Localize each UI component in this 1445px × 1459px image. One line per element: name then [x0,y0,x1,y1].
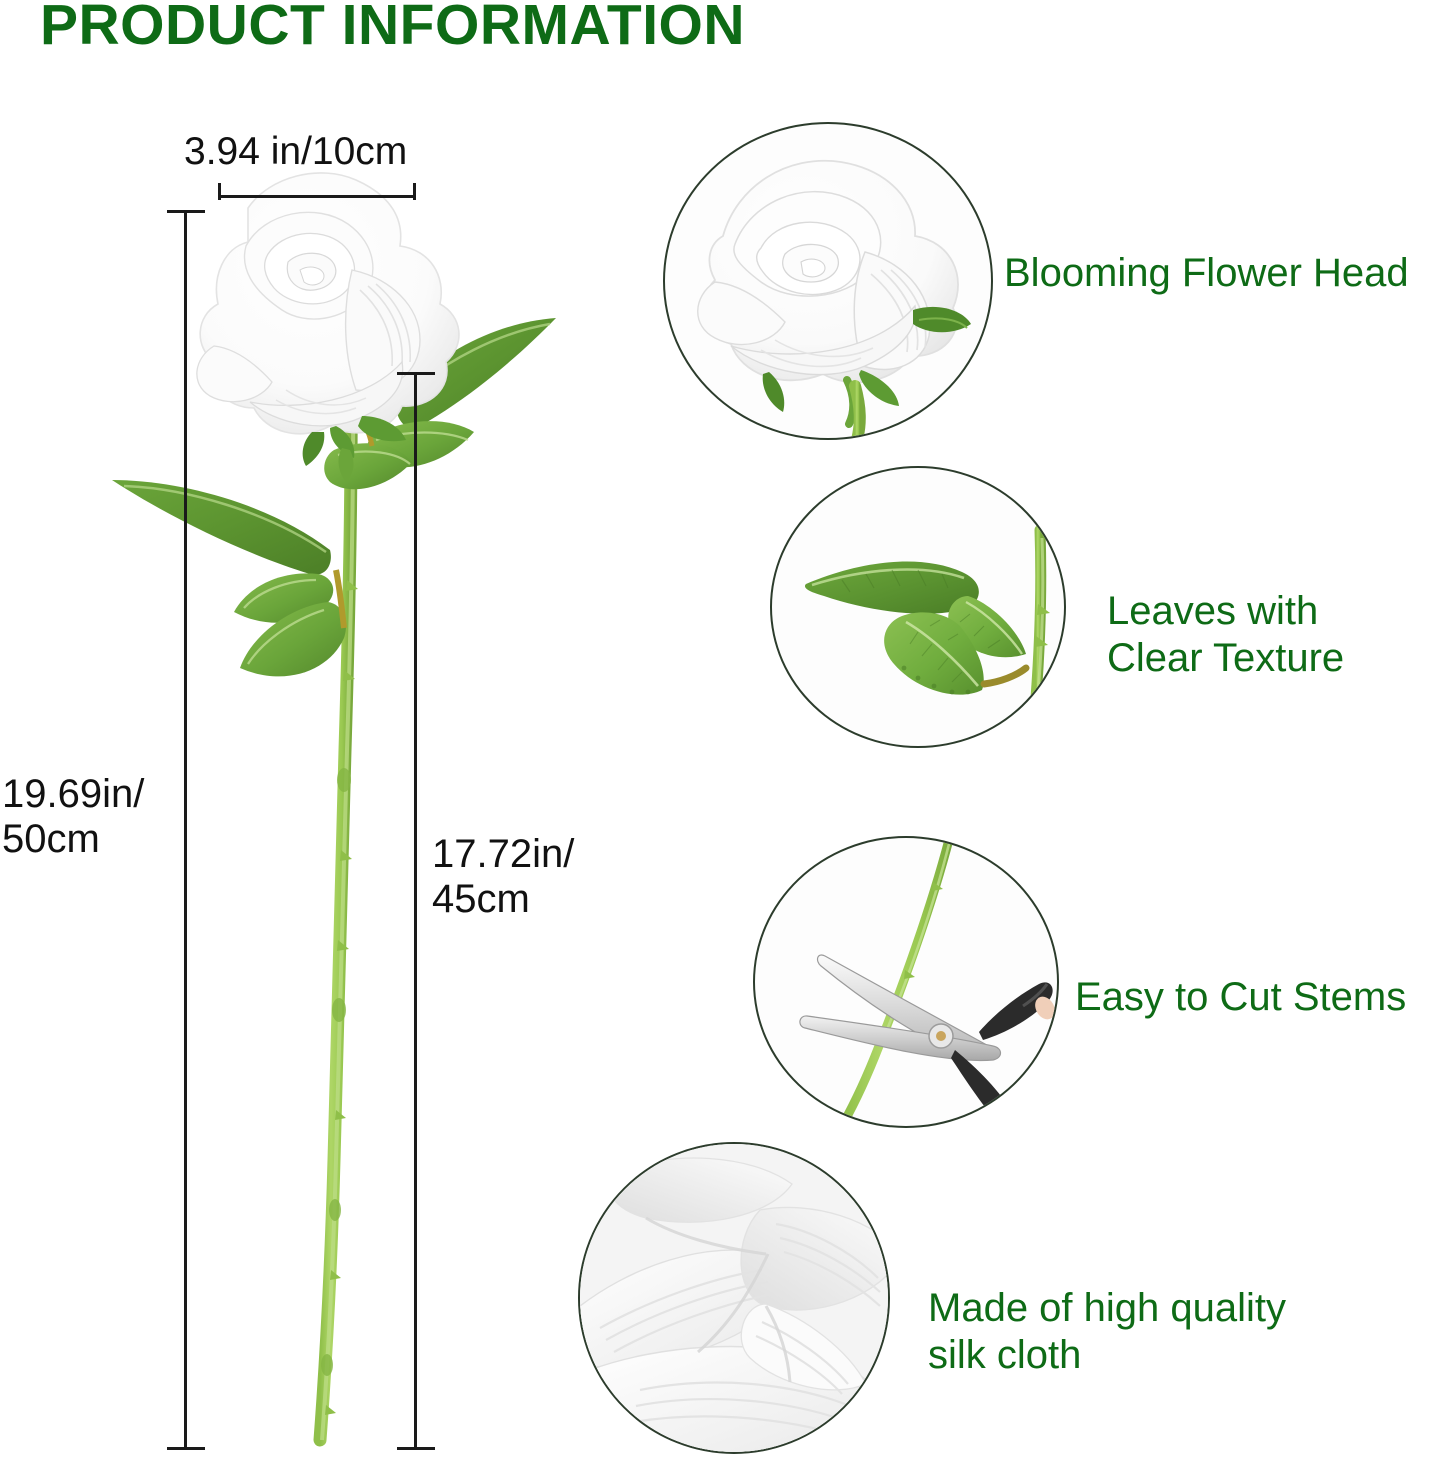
callout-label-leaves-clear-texture: Leaves with Clear Texture [1107,588,1344,682]
total-height-dimension-label: 19.69in/ 50cm [2,772,144,862]
product-information-infographic: PRODUCT INFORMATION [0,0,1445,1459]
width-dimension-tick-left [218,183,221,200]
callout-label-easy-to-cut-stems: Easy to Cut Stems [1075,974,1406,1021]
page-title: PRODUCT INFORMATION [40,0,745,56]
callout-image-high-quality-silk [578,1142,890,1454]
rose-head [197,173,459,434]
stem-height-tick-top [397,372,435,375]
callout-image-blooming-flower-head [663,122,993,440]
callout-label-blooming-flower-head: Blooming Flower Head [1004,250,1409,297]
callout-label-high-quality-silk: Made of high quality silk cloth [928,1285,1286,1379]
callout-image-leaves-clear-texture [770,466,1066,748]
width-dimension-tick-right [413,183,416,200]
total-height-dimension-line [184,210,187,1450]
stem-height-dimension-label: 17.72in/ 45cm [432,832,574,922]
lower-leaf-cluster [112,480,346,676]
callout-image-easy-to-cut-stems [753,836,1059,1128]
stem-height-dimension-line [414,372,417,1450]
width-dimension-label: 3.94 in/10cm [184,130,407,174]
total-height-tick-bottom [167,1447,205,1450]
total-height-tick-top [167,210,205,213]
stem-height-tick-bottom [397,1447,435,1450]
width-dimension-line [218,195,416,198]
